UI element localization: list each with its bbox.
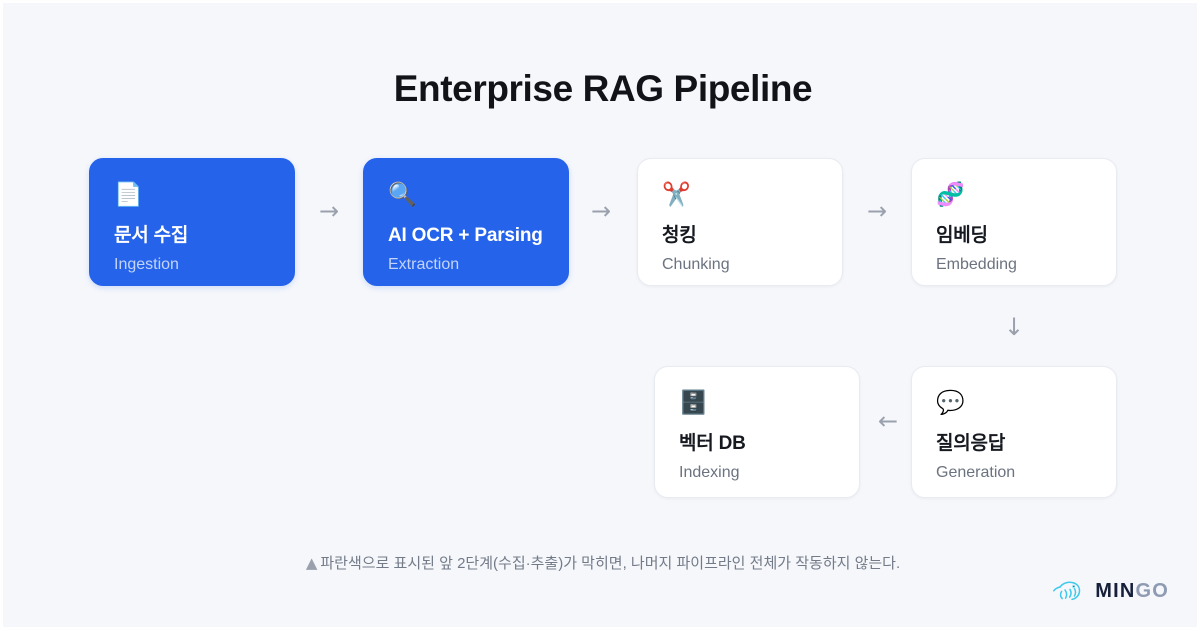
dna-icon: 🧬: [936, 181, 1092, 209]
logo-word-secondary: GO: [1135, 580, 1169, 602]
stage-title: AI OCR + Parsing: [388, 223, 544, 249]
arrow-chunking-to-embedding: →: [849, 199, 905, 223]
brand-logo: MINGO: [1052, 575, 1169, 607]
stage-card-chunking[interactable]: ✂️ 청킹 Chunking: [637, 158, 843, 286]
stage-subtitle: Chunking: [662, 254, 818, 276]
infographic-canvas: Enterprise RAG Pipeline 📄 문서 수집 Ingestio…: [0, 0, 1200, 630]
caption-text: 파란색으로 표시된 앞 2단계(수집·추출)가 막히면, 나머지 파이프라인 전…: [320, 555, 900, 572]
file-cabinet-icon: 🗄️: [679, 389, 835, 417]
stage-subtitle: Ingestion: [114, 254, 270, 276]
warning-triangle-icon: ▲: [306, 554, 318, 572]
logo-wordmark: MINGO: [1095, 579, 1169, 603]
logo-word-primary: MIN: [1095, 580, 1135, 602]
arrow-generation-to-indexing: ←: [865, 409, 911, 433]
page-title: Enterprise RAG Pipeline: [3, 65, 1200, 113]
stage-subtitle: Generation: [936, 462, 1092, 484]
stage-card-embedding[interactable]: 🧬 임베딩 Embedding: [911, 158, 1117, 286]
arrow-ingestion-to-extraction: →: [301, 199, 357, 223]
stage-subtitle: Extraction: [388, 254, 544, 276]
stage-card-ingestion[interactable]: 📄 문서 수집 Ingestion: [89, 158, 295, 286]
arrow-embedding-to-generation: ↓: [986, 315, 1042, 339]
stage-title: 벡터 DB: [679, 431, 835, 457]
document-page-icon: 📄: [114, 181, 270, 209]
stage-card-generation[interactable]: 💬 질의응답 Generation: [911, 366, 1117, 498]
mammoth-icon: [1052, 578, 1086, 604]
stage-title: 질의응답: [936, 431, 1092, 457]
caption: ▲파란색으로 표시된 앞 2단계(수집·추출)가 막히면, 나머지 파이프라인 …: [3, 551, 1200, 576]
stage-title: 임베딩: [936, 223, 1092, 249]
speech-balloon-icon: 💬: [936, 389, 1092, 417]
stage-title: 청킹: [662, 223, 818, 249]
stage-card-extraction[interactable]: 🔍 AI OCR + Parsing Extraction: [363, 158, 569, 286]
stage-title: 문서 수집: [114, 223, 270, 249]
stage-subtitle: Embedding: [936, 254, 1092, 276]
stage-card-indexing[interactable]: 🗄️ 벡터 DB Indexing: [654, 366, 860, 498]
scissors-icon: ✂️: [662, 181, 818, 209]
arrow-extraction-to-chunking: →: [573, 199, 629, 223]
stage-subtitle: Indexing: [679, 462, 835, 484]
magnifying-glass-icon: 🔍: [388, 181, 544, 209]
